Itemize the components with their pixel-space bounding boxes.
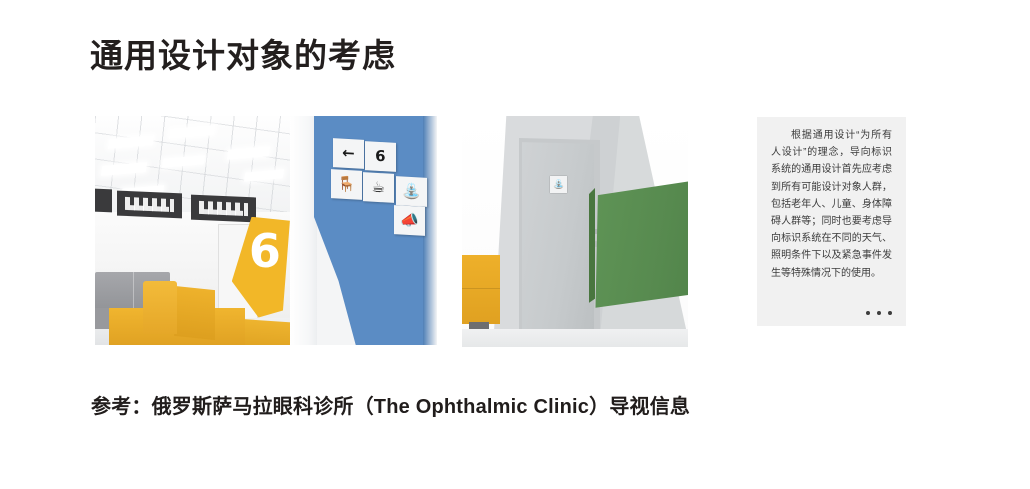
page-title: 通用设计对象的考虑 (90, 38, 396, 74)
arrow-left-icon: ← (342, 145, 355, 161)
green-panel-edge (589, 188, 596, 304)
annotation-text: 根据通用设计“为所有人设计”的理念，导向标识系统的通用设计首先应考虑到所有可能设… (771, 127, 892, 282)
sign-drinking-fountain: ⛲ (396, 176, 427, 206)
dot (866, 311, 870, 315)
sign-room-number: 6 (365, 141, 396, 171)
sign-arrow-left: ← (333, 138, 364, 168)
green-wall-panel (591, 178, 688, 307)
clinic-door (522, 142, 594, 333)
ellipsis-dots (866, 311, 892, 315)
yellow-sofa (462, 255, 500, 324)
annotation-text-panel: 根据通用设计“为所有人设计”的理念，导向标识系统的通用设计首先应考虑到所有可能设… (757, 117, 906, 326)
photo-clinic-waiting-area: 6 ← 6 🪑 ☕ ⛲ 📣 (95, 116, 437, 345)
waiting-area-icon: 🪑 (337, 176, 356, 192)
sign-waiting-area: 🪑 (331, 169, 362, 199)
figure-caption: 参考：俄罗斯萨马拉眼科诊所（The Ophthalmic Clinic）导视信息 (91, 390, 690, 419)
sofa-leg (469, 322, 489, 329)
room-number-label: 6 (375, 147, 385, 166)
sign-announcement: 📣 (394, 206, 425, 236)
announcement-icon: 📣 (400, 213, 419, 229)
cafe-icon: ☕ (372, 180, 385, 196)
door-sign: ⛲ (550, 176, 567, 193)
drinking-fountain-icon: ⛲ (402, 183, 421, 199)
dot (877, 311, 881, 315)
floor (462, 329, 688, 347)
photo-clinic-door: ⛲ (462, 116, 688, 347)
door-sign-icon: ⛲ (553, 180, 564, 190)
sign-cafe: ☕ (363, 172, 394, 202)
wayfinding-sign-group: ← 6 🪑 ☕ ⛲ 📣 (95, 116, 437, 345)
dot (888, 311, 892, 315)
